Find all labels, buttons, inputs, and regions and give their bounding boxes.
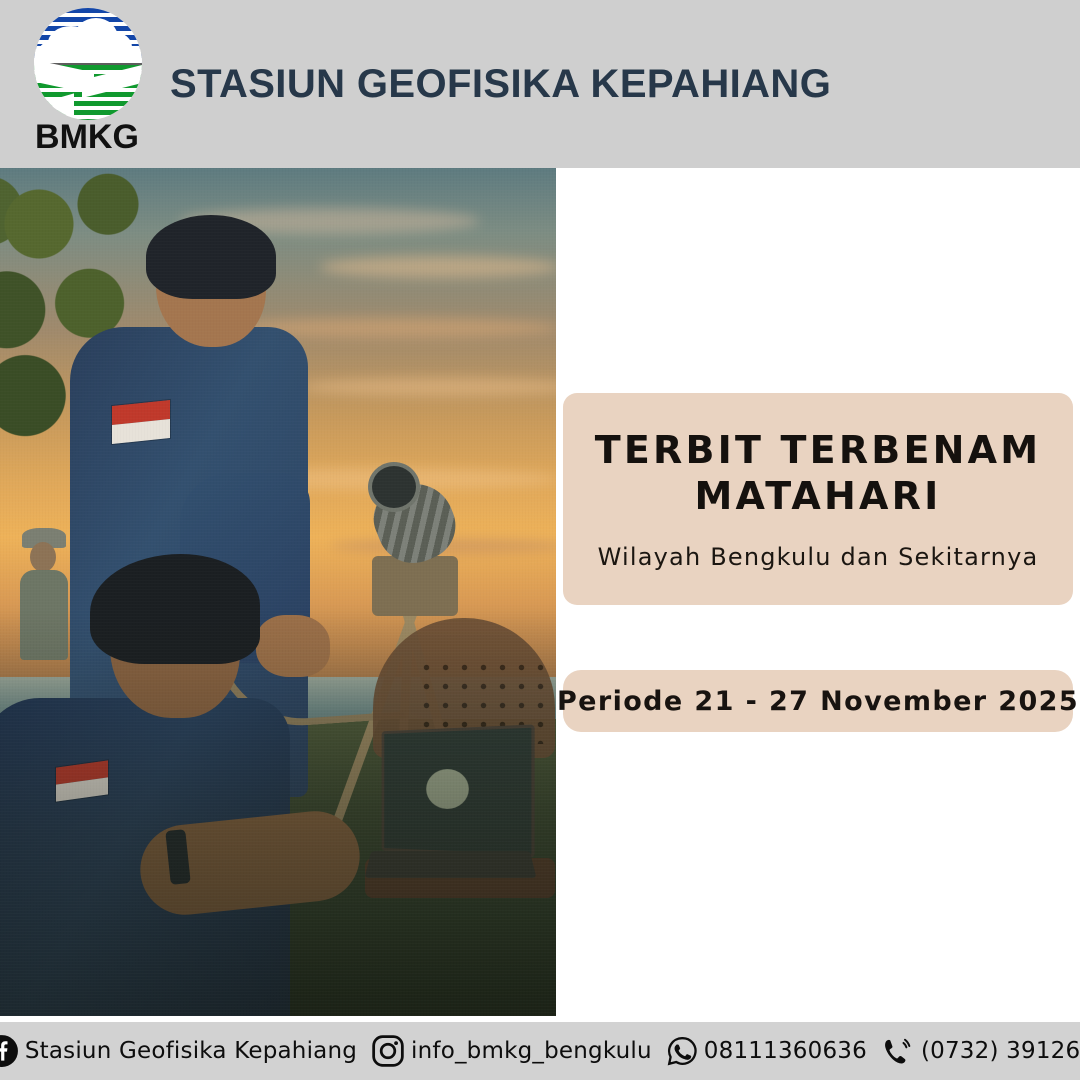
- main-title: TERBIT TERBENAM MATAHARI: [595, 427, 1041, 520]
- contact-instagram[interactable]: info_bmkg_bengkulu: [371, 1034, 652, 1068]
- subtitle: Wilayah Bengkulu dan Sekitarnya: [598, 543, 1039, 571]
- period-text: Periode 21 - 27 November 2025: [557, 686, 1079, 717]
- logo-cloud-icon: [96, 32, 132, 62]
- contact-phone[interactable]: (0732) 391267: [881, 1035, 1080, 1067]
- poster-root: BMKG STASIUN GEOFISIKA KEPAHIANG: [0, 0, 1080, 1080]
- contact-instagram-label: info_bmkg_bengkulu: [411, 1038, 652, 1064]
- footer-bar: Stasiun Geofisika Kepahiang info_bmkg_be…: [0, 1022, 1080, 1080]
- header-bar: BMKG STASIUN GEOFISIKA KEPAHIANG: [0, 0, 1080, 168]
- phone-icon[interactable]: [881, 1035, 915, 1067]
- bmkg-logo-wordmark: BMKG: [12, 118, 162, 157]
- page-title: STASIUN GEOFISIKA KEPAHIANG: [170, 62, 831, 107]
- contact-facebook-label: Stasiun Geofisika Kepahiang: [25, 1038, 357, 1064]
- period-card: Periode 21 - 27 November 2025: [563, 670, 1073, 732]
- main-title-line-1: TERBIT TERBENAM: [595, 428, 1041, 472]
- illustration-panel: [0, 168, 556, 1016]
- bmkg-logo: BMKG: [12, 0, 162, 168]
- facebook-icon[interactable]: [0, 1034, 19, 1068]
- content-panel: TERBIT TERBENAM MATAHARI Wilayah Bengkul…: [556, 168, 1080, 1016]
- contact-whatsapp[interactable]: 08111360636: [666, 1035, 867, 1067]
- contact-phone-label: (0732) 391267: [921, 1038, 1080, 1064]
- whatsapp-icon[interactable]: [666, 1035, 698, 1067]
- instagram-icon[interactable]: [371, 1034, 405, 1068]
- film-grain-overlay: [0, 168, 556, 1016]
- main-title-line-2: MATAHARI: [695, 474, 942, 518]
- bmkg-logo-icon: [34, 8, 142, 120]
- contact-facebook[interactable]: Stasiun Geofisika Kepahiang: [0, 1034, 357, 1068]
- title-card: TERBIT TERBENAM MATAHARI Wilayah Bengkul…: [563, 393, 1073, 605]
- contact-whatsapp-label: 08111360636: [704, 1038, 867, 1064]
